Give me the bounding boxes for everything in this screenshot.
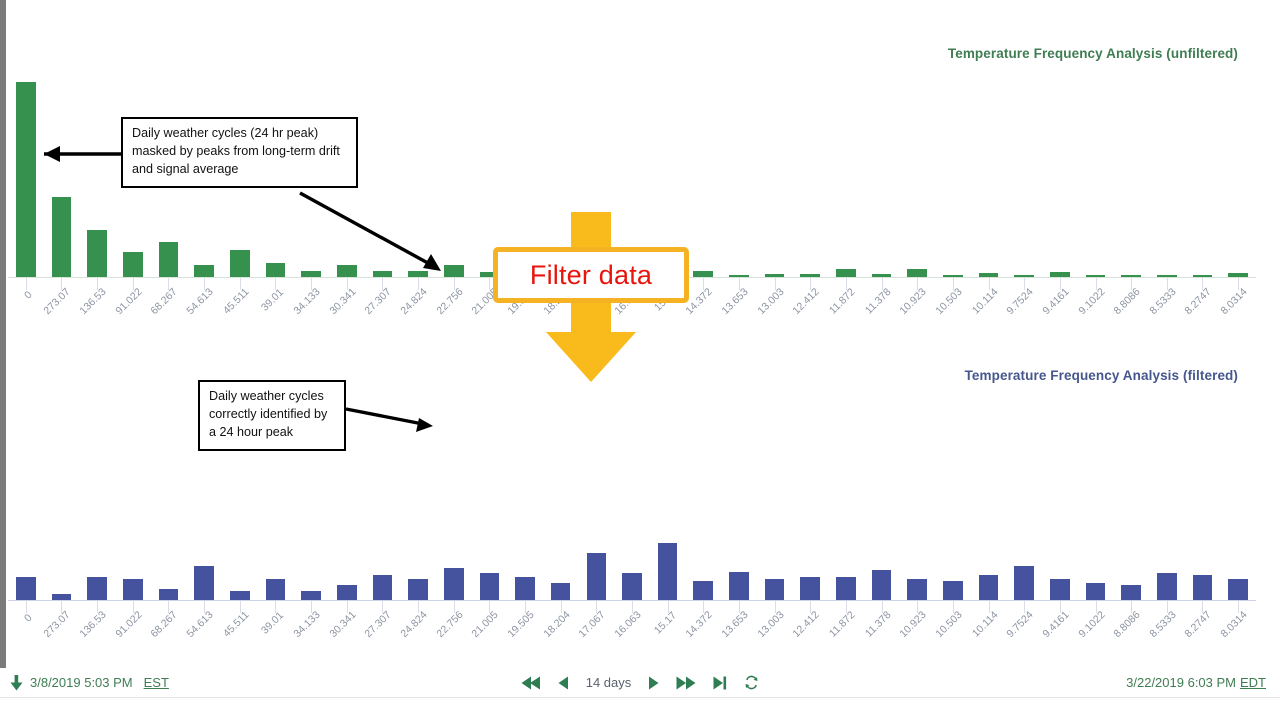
axis-tick-label: 21.005: [472, 611, 508, 657]
bar[interactable]: [943, 581, 963, 600]
bar-slot[interactable]: [757, 82, 793, 277]
axis-tick-label: 16.063: [614, 611, 650, 657]
bar-slot[interactable]: [44, 82, 80, 277]
axis-tick-label: 8.8086: [1113, 611, 1149, 657]
bar[interactable]: [159, 242, 179, 277]
bar-slot[interactable]: [400, 410, 436, 600]
axis-tick-label: 39.01: [258, 288, 294, 334]
axis-tick-label: 68.267: [151, 288, 187, 334]
axis-tick-label: 68.267: [151, 611, 187, 657]
bar[interactable]: [800, 577, 820, 600]
bar-slot[interactable]: [79, 410, 115, 600]
bar[interactable]: [729, 572, 749, 601]
status-bar: 3/8/2019 5:03 PM EST 14 days: [0, 668, 1280, 720]
axis-tick-label: 11.872: [828, 611, 864, 657]
range-end: 3/22/2019 6:03 PM EDT: [1126, 668, 1266, 697]
bar-slot[interactable]: [365, 410, 401, 600]
axis-tick-label: 27.307: [365, 611, 401, 657]
bar-slot[interactable]: [115, 410, 151, 600]
axis-tick-label: 8.5333: [1149, 611, 1185, 657]
range-duration-label: 14 days: [586, 675, 632, 690]
bar[interactable]: [87, 577, 107, 600]
bar-slot[interactable]: [1006, 82, 1042, 277]
bar[interactable]: [123, 579, 143, 600]
refresh-icon[interactable]: [744, 675, 759, 690]
bar-slot[interactable]: [507, 410, 543, 600]
bar-slot[interactable]: [1113, 410, 1149, 600]
bar-slot[interactable]: [8, 410, 44, 600]
bar[interactable]: [1050, 579, 1070, 600]
axis-tick-label: 12.412: [792, 611, 828, 657]
bar[interactable]: [408, 579, 428, 600]
callout-filtered: Daily weather cycles correctly identifie…: [198, 380, 346, 451]
bar[interactable]: [587, 553, 607, 601]
bar-slot[interactable]: [1220, 410, 1256, 600]
bar-slot[interactable]: [971, 410, 1007, 600]
bar-slot[interactable]: [1149, 410, 1185, 600]
bar[interactable]: [551, 583, 571, 600]
bar[interactable]: [658, 543, 678, 600]
bar[interactable]: [52, 197, 72, 277]
axis-tick-label: 34.133: [293, 288, 329, 334]
axis-tick-label: 9.4161: [1042, 288, 1078, 334]
bar[interactable]: [337, 265, 357, 277]
bar[interactable]: [979, 575, 999, 600]
axis-tick-label: 13.653: [721, 288, 757, 334]
skip-back-button[interactable]: [521, 676, 541, 690]
bar-slot[interactable]: [792, 410, 828, 600]
axis-tick-label: 12.412: [792, 288, 828, 334]
axis-tick-label: 9.7524: [1006, 288, 1042, 334]
bar[interactable]: [230, 591, 250, 601]
axis-tick-label: 24.824: [400, 611, 436, 657]
axis-tick-label: 9.1022: [1078, 611, 1114, 657]
bar[interactable]: [1228, 579, 1248, 600]
bar-slot[interactable]: [899, 410, 935, 600]
axis-tick-label: 14.372: [685, 611, 721, 657]
bar[interactable]: [1193, 575, 1213, 600]
bar[interactable]: [194, 566, 214, 600]
bar[interactable]: [337, 585, 357, 600]
axis-tick-label: 8.0314: [1220, 611, 1256, 657]
axis-tick-label: 273.07: [44, 611, 80, 657]
axis-tick-label: 9.1022: [1078, 288, 1114, 334]
bar[interactable]: [1157, 573, 1177, 600]
bar-slot[interactable]: [79, 82, 115, 277]
bar-slot[interactable]: [365, 82, 401, 277]
axis-tick-label: 136.53: [79, 288, 115, 334]
bar-slot[interactable]: [828, 410, 864, 600]
bar[interactable]: [444, 265, 464, 277]
bar-slot[interactable]: [721, 82, 757, 277]
bar-slot[interactable]: [935, 410, 971, 600]
time-nav-controls: 14 days: [0, 668, 1280, 697]
bar-slot[interactable]: [864, 410, 900, 600]
axis-tick-label: 45.511: [222, 611, 258, 657]
bar[interactable]: [373, 575, 393, 600]
axis-tick-label: 10.503: [935, 288, 971, 334]
bar[interactable]: [266, 579, 286, 600]
bar[interactable]: [301, 591, 321, 601]
bar[interactable]: [159, 589, 179, 600]
bar[interactable]: [693, 581, 713, 600]
axis-tick-label: 0: [8, 288, 44, 334]
bar[interactable]: [872, 570, 892, 600]
bar-slot[interactable]: [472, 410, 508, 600]
jump-to-end-button[interactable]: [713, 676, 727, 690]
bar-slot[interactable]: [543, 410, 579, 600]
bar[interactable]: [836, 577, 856, 600]
end-datetime: 3/22/2019 6:03 PM: [1126, 675, 1236, 690]
bar-slot[interactable]: [1185, 410, 1221, 600]
bar-slot[interactable]: [792, 82, 828, 277]
bar-slot[interactable]: [721, 410, 757, 600]
bar-slot[interactable]: [685, 410, 721, 600]
bar-slot[interactable]: [650, 410, 686, 600]
bar[interactable]: [444, 568, 464, 600]
bar[interactable]: [194, 265, 214, 277]
axis-tick-label: 24.824: [400, 288, 436, 334]
bar-slot[interactable]: [1149, 82, 1185, 277]
axis-tick-label: 8.5333: [1149, 288, 1185, 334]
chart-title-filtered: Temperature Frequency Analysis (filtered…: [965, 368, 1238, 383]
x-axis-labels-filtered: 0273.07136.5391.02268.26754.61345.51139.…: [8, 611, 1256, 657]
bar-slot[interactable]: [151, 410, 187, 600]
chart-filtered[interactable]: [8, 410, 1256, 600]
axis-tick-label: 91.022: [115, 288, 151, 334]
axis-tick-label: 15.17: [650, 611, 686, 657]
bar-slot[interactable]: [400, 82, 436, 277]
bar-slot[interactable]: [864, 82, 900, 277]
bar-slot[interactable]: [1185, 82, 1221, 277]
axis-tick-label: 34.133: [293, 611, 329, 657]
bar-slot[interactable]: [1078, 410, 1114, 600]
bar[interactable]: [515, 577, 535, 600]
bar-slot[interactable]: [899, 82, 935, 277]
axis-tick-label: 0: [8, 611, 44, 657]
axis-tick-label: 91.022: [115, 611, 151, 657]
axis-tick-label: 8.8086: [1113, 288, 1149, 334]
bar[interactable]: [480, 573, 500, 600]
bar-slot[interactable]: [757, 410, 793, 600]
axis-tick-label: 54.613: [186, 611, 222, 657]
axis-tick-label: 19.505: [507, 611, 543, 657]
bar[interactable]: [230, 250, 250, 277]
bar-slot[interactable]: [436, 410, 472, 600]
bar[interactable]: [87, 230, 107, 277]
plot-area-filtered: [8, 410, 1256, 600]
bar-slot[interactable]: [579, 410, 615, 600]
filter-data-banner[interactable]: Filter data: [485, 212, 697, 384]
axis-tick-label: 30.341: [329, 288, 365, 334]
bar[interactable]: [622, 573, 642, 600]
status-bar-divider: [0, 697, 1280, 698]
axis-tick-label: 54.613: [186, 288, 222, 334]
bar-slot[interactable]: [1042, 82, 1078, 277]
axis-tick-label: 9.7524: [1006, 611, 1042, 657]
bar-slot[interactable]: [828, 82, 864, 277]
dashboard-root: Temperature Frequency Analysis (unfilter…: [0, 0, 1280, 720]
axis-tick-label: 9.4161: [1042, 611, 1078, 657]
axis-tick-label: 13.003: [757, 288, 793, 334]
bar-slot[interactable]: [1006, 410, 1042, 600]
axis-tick-label: 22.756: [436, 288, 472, 334]
chart-title-unfiltered: Temperature Frequency Analysis (unfilter…: [948, 46, 1238, 61]
bar[interactable]: [1014, 566, 1034, 600]
axis-tick-label: 136.53: [79, 611, 115, 657]
bar-slot[interactable]: [8, 82, 44, 277]
axis-tick-label: 11.378: [864, 288, 900, 334]
bar-slot[interactable]: [1113, 82, 1149, 277]
filter-data-label-box: Filter data: [493, 247, 689, 303]
axis-tick-label: 27.307: [365, 288, 401, 334]
bar[interactable]: [907, 579, 927, 600]
bar-slot[interactable]: [436, 82, 472, 277]
filter-data-label: Filter data: [530, 260, 652, 291]
left-accent-rail: [0, 0, 6, 668]
axis-tick-label: 30.341: [329, 611, 365, 657]
bar[interactable]: [1086, 583, 1106, 600]
axis-tick-label: 273.07: [44, 288, 80, 334]
axis-tick-label: 13.653: [721, 611, 757, 657]
bar-slot[interactable]: [1042, 410, 1078, 600]
axis-tick-label: 17.067: [579, 611, 615, 657]
axis-tick-label: 8.2747: [1185, 611, 1221, 657]
bar[interactable]: [16, 577, 36, 600]
axis-tick-label: 10.923: [899, 611, 935, 657]
bar[interactable]: [765, 579, 785, 600]
axis-tick-label: 18.204: [543, 611, 579, 657]
axis-tick-label: 10.923: [899, 288, 935, 334]
step-back-button[interactable]: [558, 676, 569, 690]
bar[interactable]: [907, 269, 927, 277]
end-timezone[interactable]: EDT: [1240, 675, 1266, 690]
axis-tick-label: 8.0314: [1220, 288, 1256, 334]
axis-tick-label: 10.503: [935, 611, 971, 657]
bar[interactable]: [266, 263, 286, 277]
bar[interactable]: [123, 252, 143, 277]
skip-forward-button[interactable]: [676, 676, 696, 690]
axis-tick-label: 10.114: [971, 288, 1007, 334]
axis-tick-label: 13.003: [757, 611, 793, 657]
axis-tick-label: 11.872: [828, 288, 864, 334]
bar-slot[interactable]: [1078, 82, 1114, 277]
bar[interactable]: [836, 269, 856, 277]
step-forward-button[interactable]: [648, 676, 659, 690]
bar-slot[interactable]: [935, 82, 971, 277]
bar-slot[interactable]: [1220, 82, 1256, 277]
bar-slot[interactable]: [614, 410, 650, 600]
callout-unfiltered: Daily weather cycles (24 hr peak) masked…: [121, 117, 358, 188]
axis-tick-label: 22.756: [436, 611, 472, 657]
bar-slot[interactable]: [971, 82, 1007, 277]
axis-tick-label: 8.2747: [1185, 288, 1221, 334]
axis-tick-label: 45.511: [222, 288, 258, 334]
bar-slot[interactable]: [44, 410, 80, 600]
axis-tick-label: 39.01: [258, 611, 294, 657]
axis-tick-label: 10.114: [971, 611, 1007, 657]
bar[interactable]: [16, 82, 36, 277]
bar[interactable]: [1121, 585, 1141, 600]
axis-tick-label: 11.378: [864, 611, 900, 657]
